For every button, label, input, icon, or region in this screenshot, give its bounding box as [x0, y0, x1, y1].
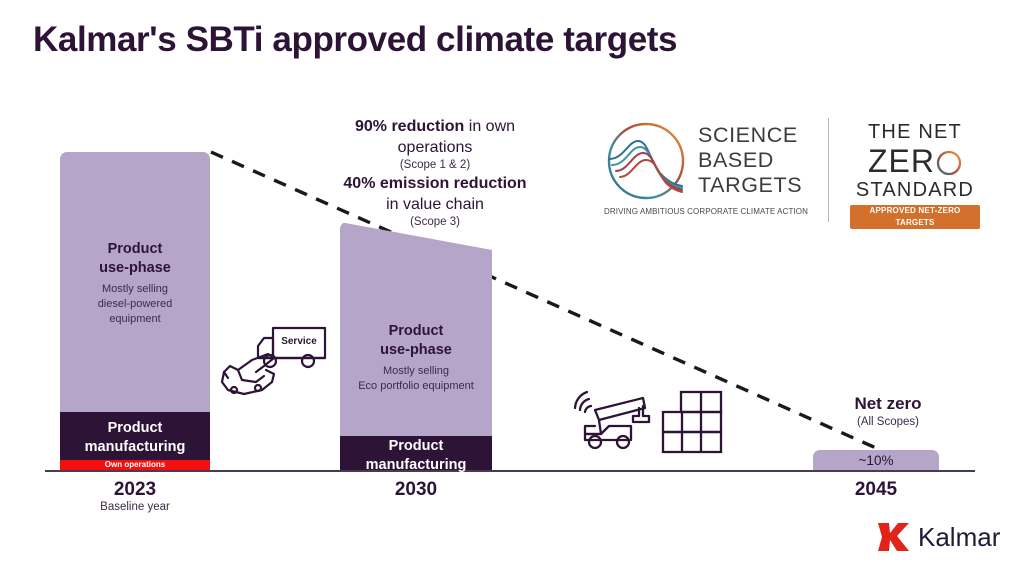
bar-2030-use-phase-title: Product use-phase — [340, 322, 492, 360]
targets-annotation: 90% reduction in own operations (Scope 1… — [290, 116, 580, 230]
bar-2030-use-title-line1: Product — [389, 323, 444, 339]
annotation-line-1: 90% reduction in own — [290, 116, 580, 137]
logo-divider — [828, 118, 829, 222]
bar-2023-own-operations-label: Own operations — [60, 459, 210, 470]
service-truck-text: Service — [281, 336, 317, 347]
nzs-line-zero: ZER — [868, 144, 962, 178]
bar-2030-use-phase-segment: Product use-phase Mostly selling Eco por… — [340, 222, 492, 436]
slide-canvas: Kalmar's SBTi approved climate targets P… — [0, 0, 1024, 576]
sbt-word-science: SCIENCE — [698, 123, 802, 148]
nzs-zero-letters: ZER — [868, 143, 935, 179]
annotation-line1-rest: in own — [464, 118, 515, 135]
bar-2030-use-sub-line2: Eco portfolio equipment — [340, 379, 492, 394]
bar-2023-use-title-line1: Product — [108, 241, 163, 257]
kalmar-mark-icon — [876, 521, 910, 553]
bar-2023-manufacturing-segment: Product manufacturing — [60, 412, 210, 460]
bar-2023-use-phase-segment: Product use-phase Mostly selling diesel-… — [60, 152, 210, 412]
net-zero-subtitle: (All Scopes) — [813, 415, 963, 430]
sbt-circle-mark — [600, 117, 692, 205]
bar-2023-use-sub-line2: diesel-powered — [98, 298, 173, 310]
sbt-word-based: BASED — [698, 148, 802, 173]
net-zero-title: Net zero — [813, 393, 963, 415]
bar-2023: Product use-phase Mostly selling diesel-… — [60, 152, 210, 470]
annotation-90-percent: 90% reduction — [355, 118, 464, 135]
bar-2030-mfg-line1: Product — [389, 438, 444, 454]
annotation-scope-1-2: (Scope 1 & 2) — [290, 158, 580, 173]
nzs-approved-badge: APPROVED NET-ZERO TARGETS — [850, 205, 980, 229]
axis-label-2030: 2030 — [340, 478, 492, 502]
nzs-line-zero-wrap: ZER — [846, 144, 984, 178]
bar-2023-mfg-line1: Product — [108, 420, 163, 436]
bar-2045-value-label: ~10% — [813, 451, 939, 471]
axis-label-2023: 2023 — [60, 478, 210, 502]
bar-2023-use-sub-line1: Mostly selling — [102, 283, 168, 295]
bar-2030-use-phase-subtitle: Mostly selling Eco portfolio equipment — [340, 364, 492, 394]
net-zero-standard-logo: THE NET ZER STANDARD APPROVED NET-ZERO T… — [846, 120, 984, 228]
axis-sublabel-2023: Baseline year — [60, 500, 210, 515]
kalmar-logo: Kalmar — [876, 520, 1000, 554]
annotation-line-2: operations — [290, 137, 580, 158]
sbt-word-targets: TARGETS — [698, 173, 802, 198]
annotation-scope-3: (Scope 3) — [290, 215, 580, 230]
axis-label-2045: 2045 — [813, 478, 939, 502]
bar-2030-use-sub-line1: Mostly selling — [340, 364, 492, 379]
annotation-line-4: in value chain — [290, 194, 580, 215]
bar-2030-manufacturing-segment: Product manufacturing — [340, 436, 492, 470]
sbt-tagline: DRIVING AMBITIOUS CORPORATE CLIMATE ACTI… — [600, 207, 812, 216]
bar-2023-use-sub-line3: equipment — [109, 313, 160, 325]
bar-2023-manufacturing-label: Product manufacturing — [60, 419, 210, 457]
annotation-40-percent: 40% emission reduction — [343, 175, 526, 192]
sbt-wordmark: SCIENCE BASED TARGETS — [698, 123, 802, 198]
bar-2023-use-title-line2: use-phase — [99, 260, 171, 276]
nzs-line-the-net: THE NET — [846, 120, 984, 144]
kalmar-wordmark: Kalmar — [918, 522, 1000, 552]
bar-2030-mfg-line2: manufacturing — [366, 457, 467, 473]
annotation-line-3: 40% emission reduction — [290, 173, 580, 194]
nzs-o-ring-icon — [936, 150, 962, 176]
eco-portfolio-icons-group — [565, 382, 717, 467]
bar-2023-use-phase-subtitle: Mostly selling diesel-powered equipment — [60, 282, 210, 327]
bar-2023-mfg-line2: manufacturing — [85, 439, 186, 455]
net-zero-caption: Net zero (All Scopes) — [813, 393, 963, 430]
bar-2030-manufacturing-label: Product manufacturing — [340, 437, 492, 475]
service-icons-group: Service — [218, 320, 330, 409]
service-truck-icon: Service — [218, 320, 330, 404]
nzs-line-standard: STANDARD — [846, 178, 984, 202]
bar-2030: Product use-phase Mostly selling Eco por… — [340, 222, 492, 470]
chart-plot-area: Product use-phase Mostly selling diesel-… — [0, 0, 1024, 576]
science-based-targets-logo: SCIENCE BASED TARGETS DRIVING AMBITIOUS … — [600, 117, 812, 221]
container-stack-icon — [661, 390, 723, 458]
bar-2030-use-title-line2: use-phase — [380, 342, 452, 358]
bar-2023-use-phase-title: Product use-phase — [60, 240, 210, 278]
